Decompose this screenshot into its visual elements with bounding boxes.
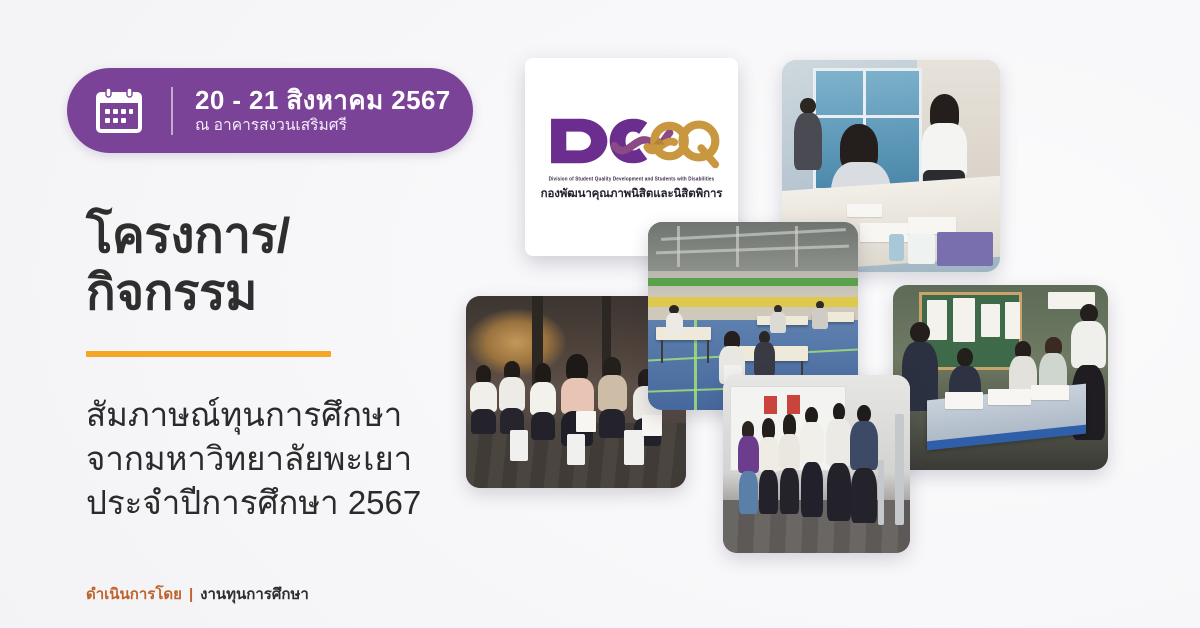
photo-announcement-board bbox=[723, 375, 910, 553]
logo-tagline-en: Division of Student Quality Development … bbox=[549, 175, 715, 181]
logo-tagline-th: กองพัฒนาคุณภาพนิสิตและนิสิตพิการ bbox=[541, 185, 723, 203]
photo-collage: Division of Student Quality Development … bbox=[0, 0, 1200, 628]
photo-document-check-room bbox=[893, 285, 1108, 470]
poster-canvas: 20 - 21 สิงหาคม 2567 ณ อาคารสงวนเสริมศรี… bbox=[0, 0, 1200, 628]
dcqq-logo-icon bbox=[544, 111, 720, 171]
